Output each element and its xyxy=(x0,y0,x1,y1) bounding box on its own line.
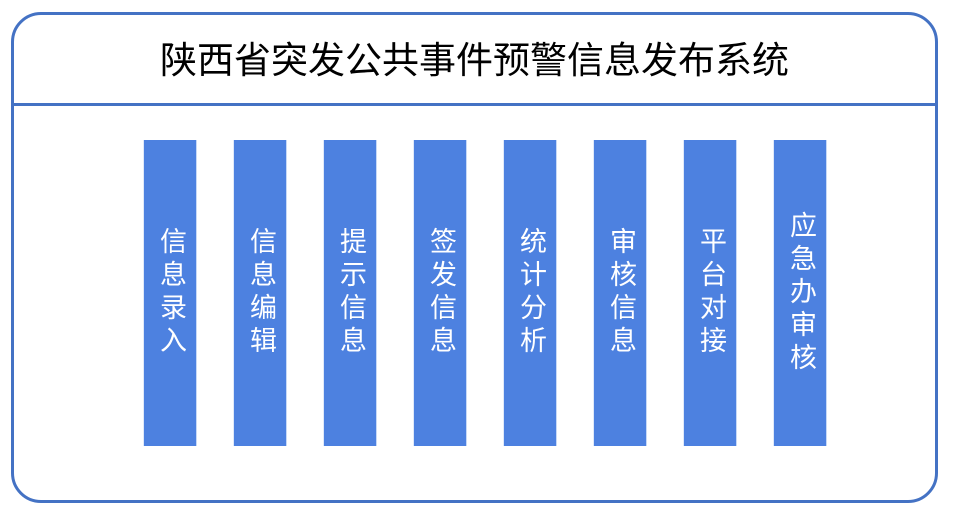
module-bar-label-4: 签发信息 xyxy=(422,227,458,359)
module-bar-3[interactable]: 提示信息 xyxy=(324,140,376,446)
module-bars-row: 信息录入 信息编辑 提示信息 签发信息 统计分析 审核信息 平台对接 应急办审 xyxy=(14,140,935,446)
diagram-canvas: 陕西省突发公共事件预警信息发布系统 信息录入 信息编辑 提示信息 签发信息 统计… xyxy=(0,0,955,516)
page-title: 陕西省突发公共事件预警信息发布系统 xyxy=(160,42,789,79)
module-bar-label-1: 信息录入 xyxy=(152,227,188,359)
module-bar-label-7: 平台对接 xyxy=(692,227,728,359)
module-bar-label-8: 应急办审核 xyxy=(782,211,818,376)
module-bar-8[interactable]: 应急办审核 xyxy=(774,140,826,446)
module-bar-2[interactable]: 信息编辑 xyxy=(234,140,286,446)
module-bar-4[interactable]: 签发信息 xyxy=(414,140,466,446)
module-bar-label-5: 统计分析 xyxy=(512,227,548,359)
module-bar-label-3: 提示信息 xyxy=(332,227,368,359)
system-frame: 陕西省突发公共事件预警信息发布系统 信息录入 信息编辑 提示信息 签发信息 统计… xyxy=(11,12,938,503)
module-bar-5[interactable]: 统计分析 xyxy=(504,140,556,446)
header-band: 陕西省突发公共事件预警信息发布系统 xyxy=(14,15,935,105)
module-bar-label-6: 审核信息 xyxy=(602,227,638,359)
header-divider xyxy=(14,103,935,106)
module-bar-1[interactable]: 信息录入 xyxy=(144,140,196,446)
module-bar-label-2: 信息编辑 xyxy=(242,227,278,359)
module-bar-6[interactable]: 审核信息 xyxy=(594,140,646,446)
module-bar-7[interactable]: 平台对接 xyxy=(684,140,736,446)
